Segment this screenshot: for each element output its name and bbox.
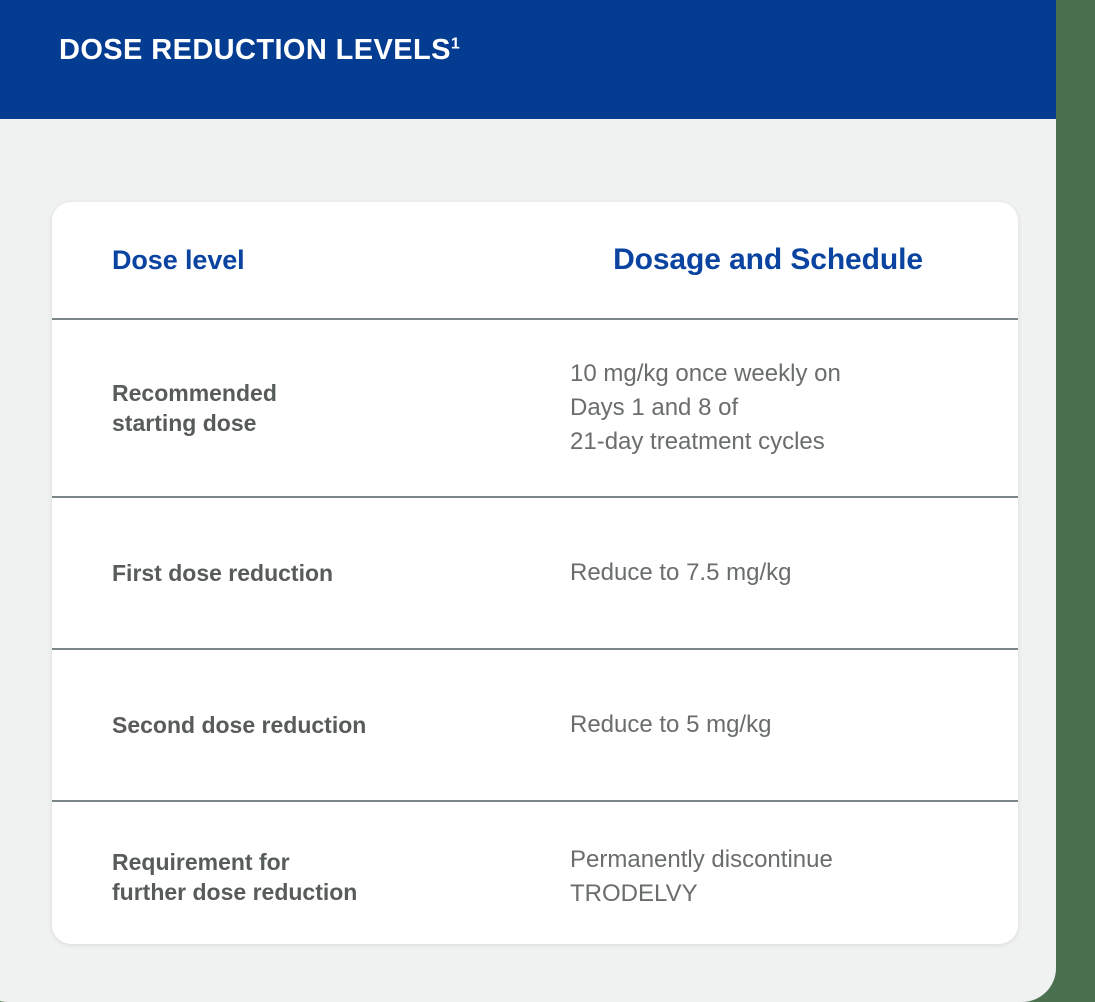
table-cell-dosage-schedule: Reduce to 5 mg/kg xyxy=(526,649,1018,801)
table-cell-dosage-schedule: Reduce to 7.5 mg/kg xyxy=(526,497,1018,649)
table-cell-dose-level: Second dose reduction xyxy=(52,649,526,801)
table-cell-dose-level: First dose reduction xyxy=(52,497,526,649)
dose-level-label: Second dose reduction xyxy=(52,710,526,740)
table-row: First dose reduction Reduce to 7.5 mg/kg xyxy=(52,497,1018,649)
dose-reduction-table: Dose level Dosage and Schedule Recommend… xyxy=(52,202,1018,944)
dosage-schedule-value: 10 mg/kg once weekly onDays 1 and 8 of21… xyxy=(526,357,1018,459)
table-row: Second dose reduction Reduce to 5 mg/kg xyxy=(52,649,1018,801)
page-title-text: DOSE REDUCTION LEVELS xyxy=(59,34,451,66)
column-header-dose-level: Dose level xyxy=(52,245,526,276)
header-banner: DOSE REDUCTION LEVELS1 xyxy=(0,0,1056,119)
table-header-cell-dose-level: Dose level xyxy=(52,202,526,319)
table-cell-dose-level: Requirement forfurther dose reduction xyxy=(52,801,526,944)
column-header-dosage-and-schedule: Dosage and Schedule xyxy=(526,243,1018,277)
table-cell-dosage-schedule: 10 mg/kg once weekly onDays 1 and 8 of21… xyxy=(526,319,1018,497)
table-row: Recommendedstarting dose 10 mg/kg once w… xyxy=(52,319,1018,497)
table-cell-dosage-schedule: Permanently discontinueTRODELVY xyxy=(526,801,1018,944)
dose-level-label: Requirement forfurther dose reduction xyxy=(52,847,526,908)
dose-reduction-table-card: Dose level Dosage and Schedule Recommend… xyxy=(52,202,1018,944)
table-cell-dose-level: Recommendedstarting dose xyxy=(52,319,526,497)
page-title: DOSE REDUCTION LEVELS1 xyxy=(59,36,460,65)
dosage-schedule-value: Reduce to 5 mg/kg xyxy=(526,708,1018,742)
table-row: Requirement forfurther dose reduction Pe… xyxy=(52,801,1018,944)
dosage-schedule-value: Reduce to 7.5 mg/kg xyxy=(526,556,1018,590)
page-title-footnote-marker: 1 xyxy=(451,35,460,52)
table-header-cell-dosage-schedule: Dosage and Schedule xyxy=(526,202,1018,319)
dose-level-label: Recommendedstarting dose xyxy=(52,378,526,439)
dose-level-label: First dose reduction xyxy=(52,558,526,588)
dosage-schedule-value: Permanently discontinueTRODELVY xyxy=(526,843,1018,911)
content-card: DOSE REDUCTION LEVELS1 Dose level Dosage… xyxy=(0,0,1056,1002)
table-header-row: Dose level Dosage and Schedule xyxy=(52,202,1018,319)
